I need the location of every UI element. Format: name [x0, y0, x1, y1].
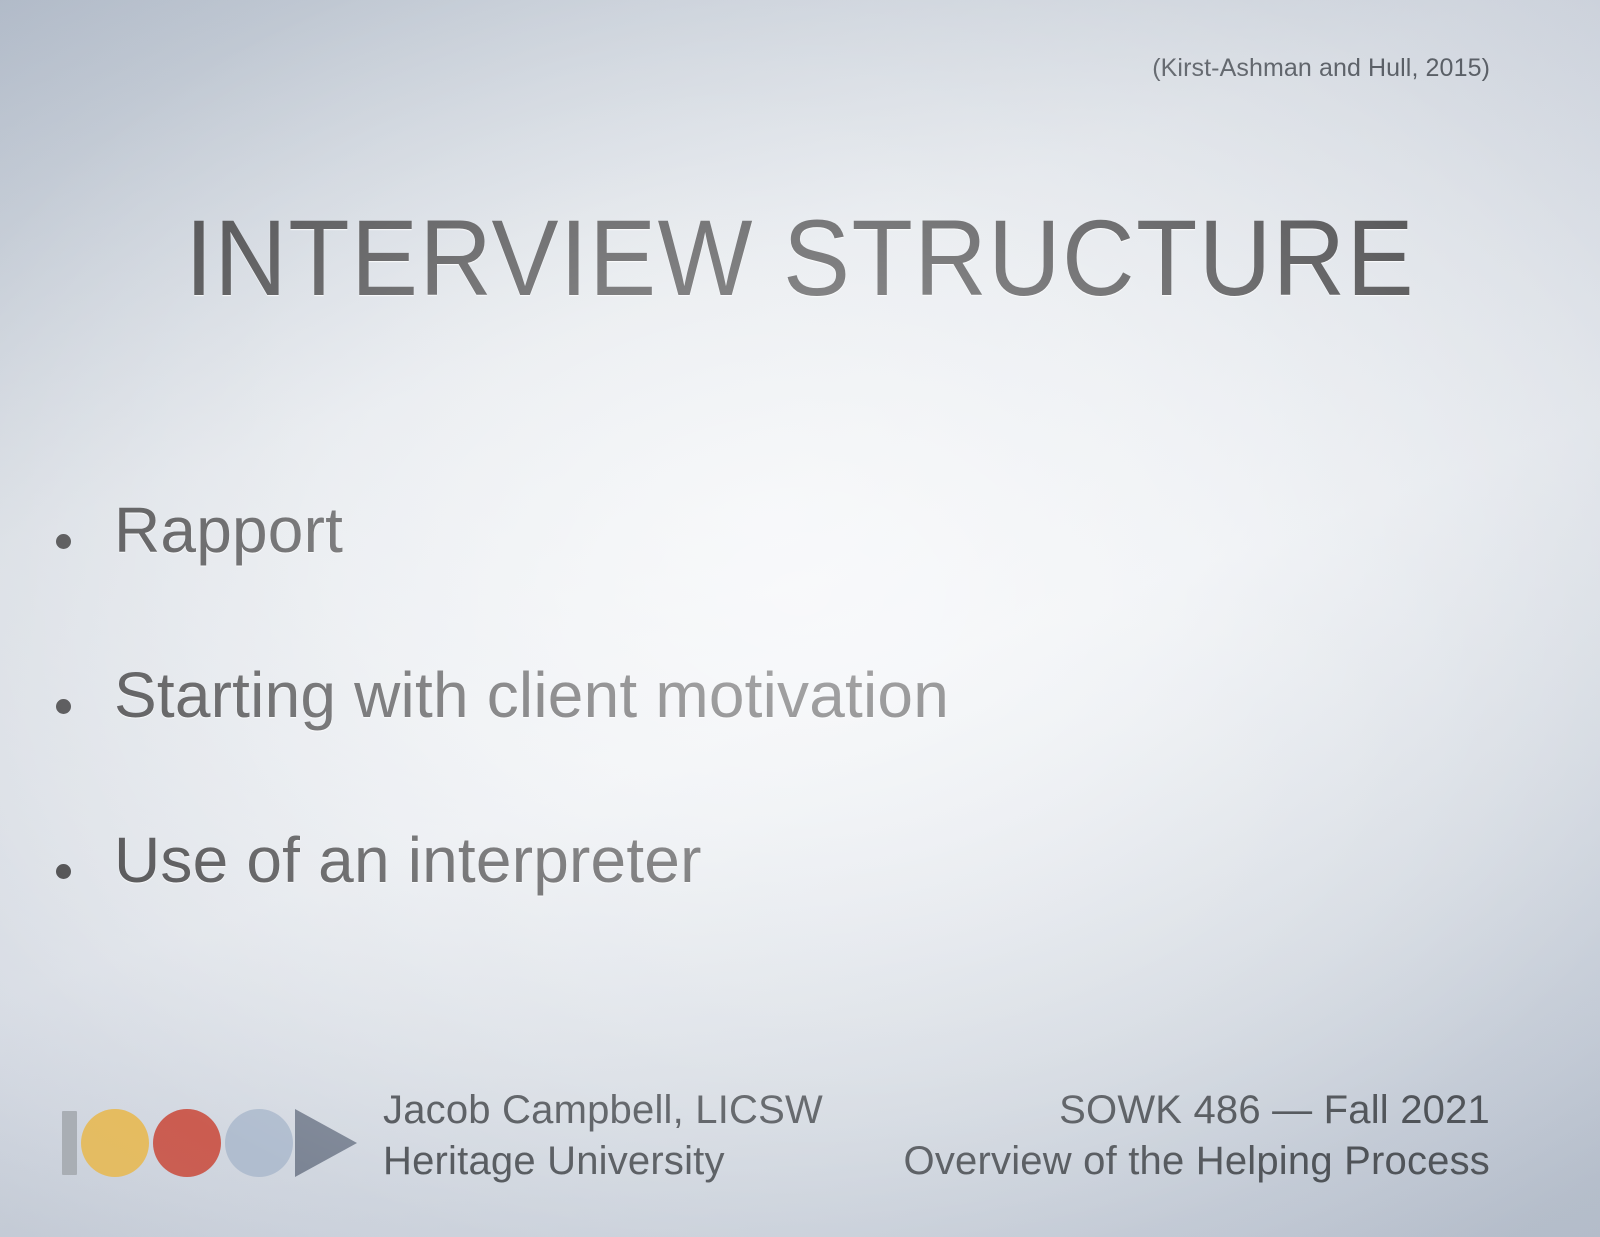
- bullet-list: Rapport Starting with client motivation …: [44, 498, 1480, 934]
- list-item: Use of an interpreter: [44, 828, 1480, 934]
- presenter-name: Jacob Campbell, LICSW: [383, 1085, 823, 1136]
- heritage-logo: [62, 1105, 357, 1181]
- logo-circle-blue-icon: [225, 1109, 293, 1177]
- slide-canvas: (Kirst-Ashman and Hull, 2015) INTERVIEW …: [0, 0, 1600, 1237]
- bullet-item-label: Starting with client motivation: [114, 663, 1480, 727]
- logo-circle-red-icon: [153, 1109, 221, 1177]
- course-info: SOWK 486 — Fall 2021 Overview of the Hel…: [904, 1085, 1490, 1187]
- bullet-dot-icon: [56, 864, 71, 879]
- bullet-dot-icon: [56, 534, 71, 549]
- citation-text: (Kirst-Ashman and Hull, 2015): [1152, 54, 1490, 83]
- bullet-dot-icon: [56, 699, 71, 714]
- course-topic: Overview of the Helping Process: [904, 1136, 1490, 1187]
- slide-footer: Jacob Campbell, LICSW Heritage Universit…: [0, 1079, 1600, 1189]
- page-title: INTERVIEW STRUCTURE: [56, 201, 1544, 314]
- course-code-term: SOWK 486 — Fall 2021: [904, 1085, 1490, 1136]
- presenter-institution: Heritage University: [383, 1136, 823, 1187]
- list-item: Starting with client motivation: [44, 663, 1480, 769]
- bullet-item-label: Rapport: [114, 498, 1480, 562]
- logo-play-triangle-icon: [295, 1109, 357, 1177]
- bullet-item-label: Use of an interpreter: [114, 828, 1480, 892]
- logo-bar-icon: [62, 1111, 77, 1175]
- list-item: Rapport: [44, 498, 1480, 604]
- logo-circle-gold-icon: [81, 1109, 149, 1177]
- presenter-info: Jacob Campbell, LICSW Heritage Universit…: [383, 1085, 823, 1187]
